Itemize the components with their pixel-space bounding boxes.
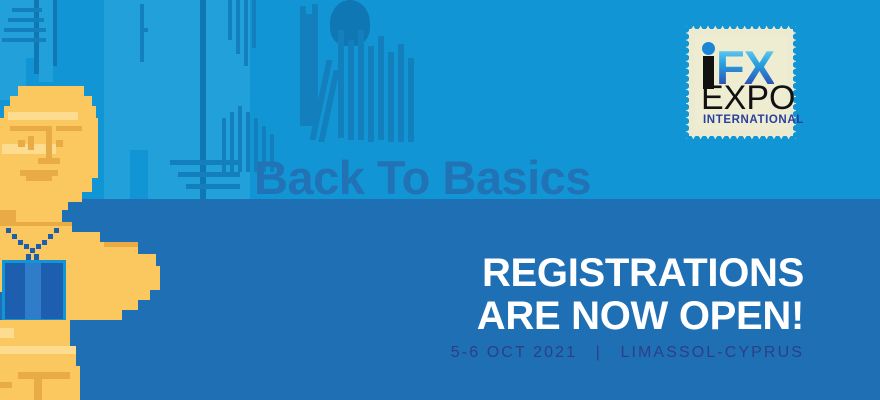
headline-block: REGISTRATIONS ARE NOW OPEN! 5-6 OCT 2021… bbox=[451, 252, 804, 362]
stamp-paper: FX EXPO INTERNATIONAL bbox=[695, 35, 787, 130]
pixel-art-idol-figure bbox=[0, 82, 190, 400]
headline-line-2: ARE NOW OPEN! bbox=[451, 295, 804, 338]
ifx-expo-logo-stamp[interactable]: FX EXPO INTERNATIONAL bbox=[686, 26, 796, 139]
logo-i-dot-icon bbox=[702, 42, 715, 55]
event-location: LIMASSOL-CYPRUS bbox=[620, 344, 804, 361]
tagline-back-to-basics: Back To Basics bbox=[254, 154, 591, 201]
logo-word-international: INTERNATIONAL bbox=[703, 115, 804, 127]
event-separator: | bbox=[584, 344, 614, 361]
logo-word-expo: EXPO bbox=[701, 81, 795, 115]
headline-line-1: REGISTRATIONS bbox=[451, 252, 804, 295]
ifx-expo-registration-banner: Back To Basics FX EXPO INTERNATIONAL REG… bbox=[0, 0, 880, 400]
event-details-line: 5-6 OCT 2021 | LIMASSOL-CYPRUS bbox=[451, 344, 804, 362]
event-dates: 5-6 OCT 2021 bbox=[451, 344, 577, 361]
